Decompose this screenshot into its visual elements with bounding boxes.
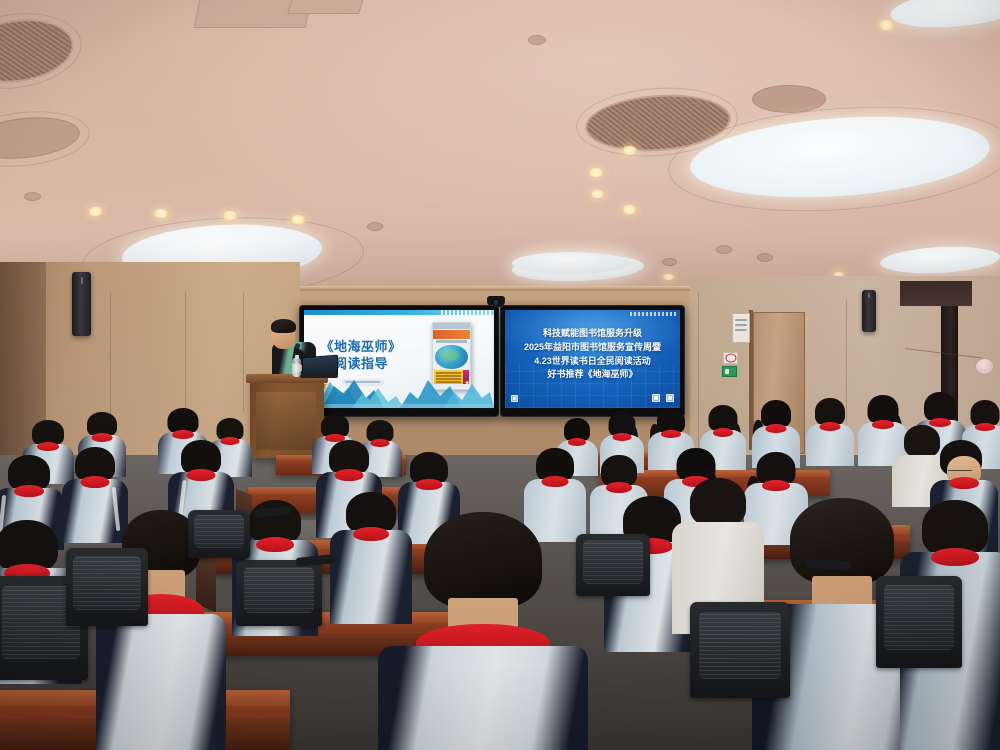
red-neckerchief [762,480,790,491]
ceiling-vent-panel [287,0,369,14]
ceiling-downlight [153,209,169,218]
chair[interactable] [576,534,650,596]
slide-right-line-1: 科技赋能图书馆服务升级 [512,327,673,341]
chair[interactable] [188,510,250,558]
chair[interactable] [690,602,790,698]
red-neckerchief [187,469,216,481]
star-accent-icon: ★ [464,379,470,387]
book-cover-top-band [433,323,470,329]
ceiling-downlight [290,215,306,224]
slide-watermark [630,312,676,316]
ceiling-downlight [622,146,637,155]
red-neckerchief [172,430,194,439]
slide-right-line-4: 好书推荐《地海巫师》 [512,368,673,382]
student-foreground-center [378,512,588,750]
wall-decoration [975,358,994,375]
wall-panel-seam [243,292,244,412]
ceiling-downlight-off [24,192,41,201]
red-neckerchief [949,477,979,489]
ceiling-downlight-off [528,35,546,45]
red-neckerchief [713,428,733,437]
book-cover-subtitle [436,340,467,343]
red-neckerchief [820,422,841,431]
book-cover-title-band [433,330,470,339]
ceiling-downlight [88,207,103,216]
ceiling-downlight [590,190,605,198]
chair-mesh-back [699,612,781,679]
display-panel-right[interactable]: 科技赋能图书馆服务升级 2025年益阳市图书馆服务宣传周暨 4.23世界读书日全… [500,305,685,417]
chair-mesh-back [244,567,315,613]
slide-right-line-2: 2025年益阳市图书馆服务宣传周暨 [512,341,673,355]
book-cover-illustration [435,345,468,369]
presenter-hair [271,319,296,333]
red-neckerchief [416,479,443,490]
red-neckerchief [81,476,110,488]
slide-right-text: 科技赋能图书馆服务升级 2025年益阳市图书馆服务宣传周暨 4.23世界读书日全… [512,327,673,383]
red-neckerchief [568,438,586,446]
exit-sign [722,366,737,377]
chair[interactable] [66,548,148,626]
red-neckerchief [335,469,364,481]
ceiling-downlight-off [367,222,383,231]
curtain-valance [900,281,972,306]
slide-left-title-line1: 《地海巫师》 [315,339,406,355]
red-neckerchief [542,476,569,487]
red-neckerchief [766,424,787,433]
wall-panel-seam [698,292,699,467]
wall-speaker-left [72,272,91,336]
student-uniform [96,614,226,750]
ceiling-downlight [622,205,637,214]
screen-control-icon[interactable] [666,394,674,402]
red-neckerchief [256,537,294,552]
chair[interactable] [876,576,962,668]
laptop-base [300,374,338,378]
screen-control-icon[interactable] [652,394,660,402]
chair-mesh-back [73,556,140,611]
chair-mesh-back [884,585,955,649]
red-neckerchief [37,442,59,451]
red-neckerchief [931,548,979,566]
ceiling-downlight [222,211,238,220]
chair-mesh-back [194,515,245,549]
ceiling-downlight [588,168,604,177]
ceiling-downlight [878,20,895,30]
lecture-hall-photo: 《地海巫师》 阅读指导 [0,0,1000,750]
screen-control-icon[interactable] [511,395,518,402]
podium-front-panel [256,392,316,450]
student-hair [424,512,542,608]
red-neckerchief [14,485,44,497]
red-neckerchief [606,482,632,493]
ceiling-speaker-plate [752,85,826,113]
red-neckerchief [613,433,632,441]
display-screen-right: 科技赋能图书馆服务升级 2025年益阳市图书馆服务宣传周暨 4.23世界读书日全… [505,310,680,408]
chair-mesh-back [583,540,644,583]
student-hair [790,498,894,584]
eyeglasses-icon [948,470,972,474]
wall-info-plate [732,313,750,343]
red-neckerchief [92,433,113,442]
no-smoking-sign [723,352,738,364]
slide-watermark [441,310,491,315]
water-bottle [292,358,301,377]
wall-speaker-right [862,290,876,332]
red-neckerchief [975,423,995,431]
red-neckerchief [872,420,894,429]
student-uniform [378,646,588,750]
slide-right-line-3: 4.23世界读书日全民阅读活动 [512,355,673,369]
student-hair [690,478,746,526]
chair[interactable] [236,560,322,626]
student-backrow [806,398,854,464]
red-neckerchief [661,430,681,438]
